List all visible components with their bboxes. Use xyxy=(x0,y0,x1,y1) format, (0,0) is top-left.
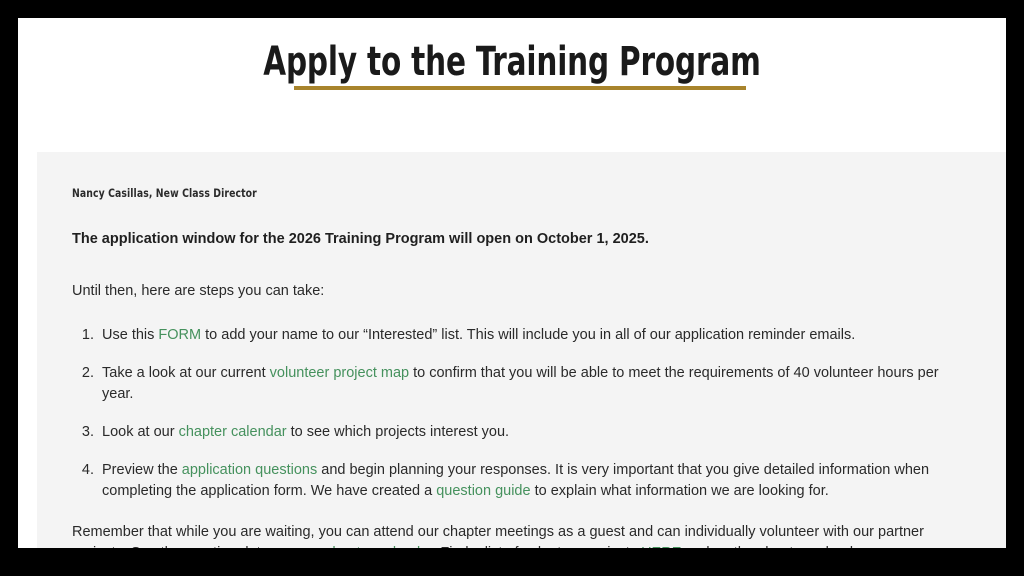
intro-text: Until then, here are steps you can take: xyxy=(72,281,972,301)
step-1-text-after: to add your name to our “Interested” lis… xyxy=(201,327,855,343)
page-title: Apply to the Training Program xyxy=(107,38,917,86)
step-2-text-before: Take a look at our current xyxy=(102,365,270,381)
step-4-text-before: Preview the xyxy=(102,462,182,478)
list-item: Look at our chapter calendar to see whic… xyxy=(98,422,972,443)
application-questions-link[interactable]: application questions xyxy=(182,462,317,478)
announcement-headline: The application window for the 2026 Trai… xyxy=(72,229,972,249)
closing-text-part-3: and on the chapter calendar. xyxy=(681,545,869,548)
step-3-text-before: Look at our xyxy=(102,424,179,440)
slide-page: Apply to the Training Program Nancy Casi… xyxy=(18,18,1006,548)
here-link[interactable]: HERE xyxy=(641,545,681,548)
content-body: Nancy Casillas, New Class Director The a… xyxy=(72,186,972,548)
list-item: Take a look at our current volunteer pro… xyxy=(98,363,972,405)
slide-viewer: Apply to the Training Program Nancy Casi… xyxy=(0,0,1024,576)
question-guide-link[interactable]: question guide xyxy=(436,483,530,499)
chapter-calendar-link[interactable]: chapter calendar xyxy=(179,424,287,440)
form-link[interactable]: FORM xyxy=(158,327,201,343)
list-item: Use this FORM to add your name to our “I… xyxy=(98,325,972,346)
chapter-calendar-link-2[interactable]: chapter calendar xyxy=(325,545,432,548)
slide-title-band: Apply to the Training Program xyxy=(18,18,1006,134)
title-underline-rule xyxy=(294,86,746,90)
steps-list: Use this FORM to add your name to our “I… xyxy=(72,325,972,502)
step-1-text-before: Use this xyxy=(102,327,158,343)
closing-text-part-2: . Find a list of volunteer projects xyxy=(432,545,641,548)
step-3-text-after: to see which projects interest you. xyxy=(287,424,509,440)
volunteer-project-map-link[interactable]: volunteer project map xyxy=(270,365,409,381)
step-4-text-after: to explain what information we are looki… xyxy=(531,483,829,499)
author-byline: Nancy Casillas, New Class Director xyxy=(72,186,882,200)
list-item: Preview the application questions and be… xyxy=(98,460,972,502)
closing-paragraph: Remember that while you are waiting, you… xyxy=(72,522,972,548)
content-panel: Nancy Casillas, New Class Director The a… xyxy=(37,152,1006,548)
